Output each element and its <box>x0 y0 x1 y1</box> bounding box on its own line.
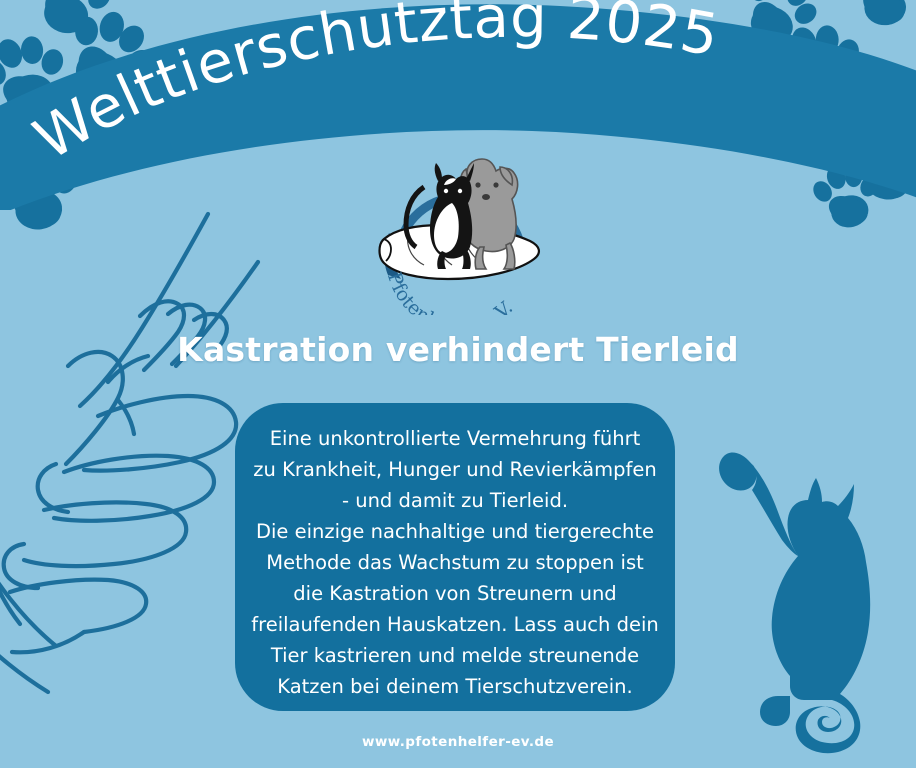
poster-canvas: Welttierschutztag 2025 // put banner tit… <box>0 0 916 768</box>
footer-website: www.pfotenhelfer-ev.de <box>0 734 916 750</box>
page-headline: Kastration verhindert Tierleid <box>0 330 916 369</box>
body-text-card: Eine unkontrollierte Vermehrung führt zu… <box>235 403 675 711</box>
pfotenhelfer-logo: Pfotenhelfer e.V. <box>372 143 548 315</box>
cat-silhouette <box>686 444 916 768</box>
body-paragraph: Eine unkontrollierte Vermehrung führt zu… <box>235 423 675 702</box>
